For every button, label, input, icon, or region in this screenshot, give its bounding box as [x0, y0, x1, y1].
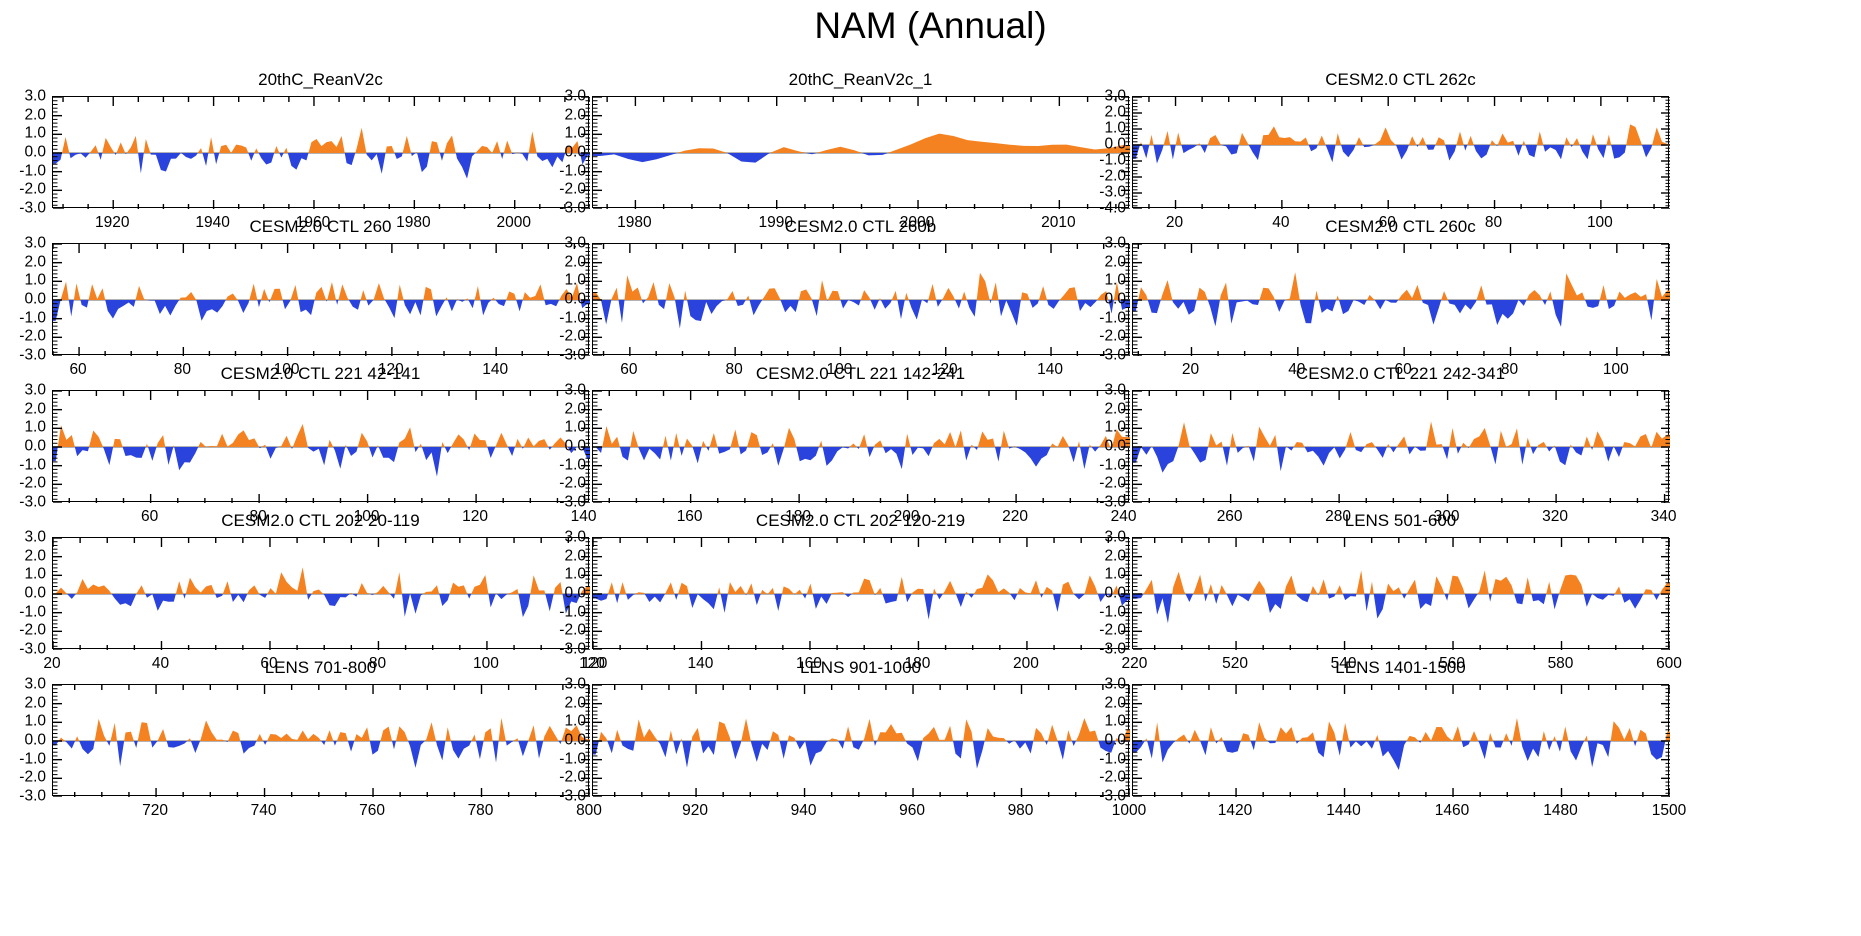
panel-plot-area [593, 391, 1130, 503]
plot-frame [52, 684, 589, 796]
y-tick-label: 2.0 [24, 548, 46, 564]
x-tick-label: 940 [791, 803, 817, 819]
y-tick-label: -2.0 [19, 329, 46, 345]
y-tick-label: -2.0 [559, 329, 586, 345]
y-tick-label: -1.0 [1099, 604, 1126, 620]
y-tick-label: 2.0 [564, 401, 586, 417]
plot-frame [592, 537, 1129, 649]
y-tick-label: -2.0 [559, 476, 586, 492]
panel-title: LENS 501-600 [1132, 511, 1669, 531]
y-tick-label: 0.0 [564, 144, 586, 160]
y-tick-label: 0.0 [564, 732, 586, 748]
panel-title: CESM2.0 CTL 221 142-241 [592, 364, 1129, 384]
y-tick-label: 2.0 [1104, 548, 1126, 564]
panel-plot-area [1133, 244, 1670, 356]
panel-title: CESM2.0 CTL 260c [1132, 217, 1669, 237]
y-tick-label: 3.0 [564, 88, 586, 104]
panel-title: CESM2.0 CTL 260b [592, 217, 1129, 237]
y-tick-label: -3.0 [559, 788, 586, 804]
y-tick-label: 0.0 [24, 585, 46, 601]
panel-plot-area [53, 685, 590, 797]
y-tick-label: -2.0 [559, 623, 586, 639]
chart-panel-5: CESM2.0 CTL 260c3.02.01.00.0-1.0-2.0-3.0… [1132, 243, 1669, 355]
y-tick-label: -1.0 [1099, 310, 1126, 326]
negative-anomaly-area [53, 567, 590, 617]
y-tick-label: -1.0 [559, 457, 586, 473]
y-tick-label: -4.0 [1099, 200, 1126, 216]
y-tick-label: -3.0 [1099, 494, 1126, 510]
panel-plot-area [1133, 685, 1670, 797]
positive-anomaly-area [53, 567, 590, 617]
y-tick-label: -1.0 [19, 163, 46, 179]
x-tick-label: 720 [142, 803, 168, 819]
y-tick-label: 3.0 [1104, 676, 1126, 692]
y-tick-label: -2.0 [1099, 329, 1126, 345]
panel-title: 20thC_ReanV2c_1 [592, 70, 1129, 90]
y-tick-label: 0.0 [24, 438, 46, 454]
y-tick-label: 3.0 [1104, 235, 1126, 251]
y-tick-label: -3.0 [1099, 788, 1126, 804]
positive-anomaly-area [593, 134, 1130, 163]
y-tick-label: 1.0 [1104, 714, 1126, 730]
chart-panel-2: CESM2.0 CTL 262c3.02.01.00.0-1.0-2.0-3.0… [1132, 96, 1669, 208]
y-tick-label: 0.0 [1104, 291, 1126, 307]
y-tick-label: -2.0 [1099, 476, 1126, 492]
panel-title: CESM2.0 CTL 202 120-219 [592, 511, 1129, 531]
chart-panel-13: LENS 901-10003.02.01.00.0-1.0-2.0-3.0920… [592, 684, 1129, 796]
y-tick-label: 1.0 [1104, 120, 1126, 136]
y-tick-label: 3.0 [564, 235, 586, 251]
y-tick-label: 2.0 [1104, 401, 1126, 417]
chart-panel-8: CESM2.0 CTL 221 242-3413.02.01.00.0-1.0-… [1132, 390, 1669, 502]
x-tick-label: 1460 [1435, 803, 1469, 819]
y-tick-label: -2.0 [559, 182, 586, 198]
y-tick-label: 2.0 [1104, 254, 1126, 270]
panel-title: LENS 901-1000 [592, 658, 1129, 678]
y-tick-label: -1.0 [19, 751, 46, 767]
plot-frame [1132, 684, 1669, 796]
x-tick-label: 740 [251, 803, 277, 819]
y-tick-label: 0.0 [1104, 732, 1126, 748]
x-tick-label: 800 [576, 803, 602, 819]
y-tick-label: 2.0 [24, 107, 46, 123]
panel-plot-area [53, 97, 590, 209]
y-tick-label: 2.0 [24, 695, 46, 711]
panel-title: 20thC_ReanV2c [52, 70, 589, 90]
negative-anomaly-area [593, 718, 1130, 768]
x-tick-label: 1000 [1112, 803, 1146, 819]
y-tick-label: -3.0 [559, 200, 586, 216]
y-tick-label: -2.0 [19, 182, 46, 198]
x-tick-label: 1420 [1218, 803, 1252, 819]
y-tick-label: 1.0 [564, 273, 586, 289]
y-tick-label: -3.0 [19, 200, 46, 216]
y-tick-label: -3.0 [559, 347, 586, 363]
y-tick-label: -2.0 [1099, 770, 1126, 786]
panel-plot-area [53, 391, 590, 503]
positive-anomaly-area [593, 574, 1130, 619]
y-tick-label: -3.0 [19, 494, 46, 510]
chart-panel-6: CESM2.0 CTL 221 42-1413.02.01.00.0-1.0-2… [52, 390, 589, 502]
y-tick-label: 2.0 [564, 107, 586, 123]
chart-panel-4: CESM2.0 CTL 260b3.02.01.00.0-1.0-2.0-3.0… [592, 243, 1129, 355]
panel-plot-area [1133, 538, 1670, 650]
y-tick-label: -1.0 [559, 163, 586, 179]
y-tick-label: 0.0 [24, 291, 46, 307]
figure-title: NAM (Annual) [0, 4, 1861, 48]
y-tick-label: -1.0 [1099, 152, 1126, 168]
chart-panel-0: 20thC_ReanV2c3.02.01.00.0-1.0-2.0-3.0192… [52, 96, 589, 208]
x-tick-label: 920 [682, 803, 708, 819]
y-tick-label: 3.0 [24, 88, 46, 104]
x-tick-label: 1480 [1543, 803, 1577, 819]
chart-panel-10: CESM2.0 CTL 202 120-2193.02.01.00.0-1.0-… [592, 537, 1129, 649]
y-tick-label: 2.0 [24, 401, 46, 417]
plot-frame [52, 537, 589, 649]
y-tick-label: 3.0 [24, 529, 46, 545]
plot-frame [1132, 96, 1669, 208]
plot-frame [1132, 390, 1669, 502]
y-tick-label: -1.0 [559, 751, 586, 767]
chart-panel-9: CESM2.0 CTL 202 20-1193.02.01.00.0-1.0-2… [52, 537, 589, 649]
plot-frame [592, 96, 1129, 208]
panel-title: LENS 1401-1500 [1132, 658, 1669, 678]
y-tick-label: 1.0 [564, 420, 586, 436]
y-tick-label: 1.0 [564, 126, 586, 142]
panel-plot-area [593, 97, 1130, 209]
y-tick-label: -2.0 [1099, 623, 1126, 639]
negative-anomaly-area [593, 574, 1130, 619]
y-tick-label: -2.0 [19, 476, 46, 492]
panel-plot-area [593, 685, 1130, 797]
y-tick-label: 3.0 [24, 382, 46, 398]
y-tick-label: -2.0 [559, 770, 586, 786]
y-tick-label: 3.0 [564, 382, 586, 398]
panel-title: CESM2.0 CTL 262c [1132, 70, 1669, 90]
y-tick-label: -3.0 [1099, 347, 1126, 363]
figure-canvas: NAM (Annual) 20thC_ReanV2c3.02.01.00.0-1… [0, 0, 1861, 936]
y-tick-label: 0.0 [1104, 585, 1126, 601]
y-tick-label: -3.0 [19, 347, 46, 363]
y-tick-label: -1.0 [19, 457, 46, 473]
y-tick-label: 3.0 [1104, 529, 1126, 545]
y-tick-label: -1.0 [559, 310, 586, 326]
plot-frame [1132, 243, 1669, 355]
panel-plot-area [53, 244, 590, 356]
y-tick-label: 1.0 [24, 567, 46, 583]
chart-panel-7: CESM2.0 CTL 221 142-2413.02.01.00.0-1.0-… [592, 390, 1129, 502]
chart-panel-14: LENS 1401-15003.02.01.00.0-1.0-2.0-3.014… [1132, 684, 1669, 796]
y-tick-label: 0.0 [564, 585, 586, 601]
panel-title: CESM2.0 CTL 221 242-341 [1132, 364, 1669, 384]
y-tick-label: 3.0 [24, 676, 46, 692]
y-tick-label: 3.0 [564, 676, 586, 692]
y-tick-label: 0.0 [24, 144, 46, 160]
y-tick-label: -1.0 [559, 604, 586, 620]
chart-panel-11: LENS 501-6003.02.01.00.0-1.0-2.0-3.05205… [1132, 537, 1669, 649]
panel-plot-area [1133, 391, 1670, 503]
y-tick-label: -1.0 [19, 310, 46, 326]
y-tick-label: -3.0 [559, 494, 586, 510]
y-tick-label: 1.0 [24, 126, 46, 142]
y-tick-label: 0.0 [564, 438, 586, 454]
y-tick-label: 1.0 [564, 714, 586, 730]
y-tick-label: 1.0 [1104, 273, 1126, 289]
plot-frame [1132, 537, 1669, 649]
panel-plot-area [1133, 97, 1670, 209]
plot-frame [592, 684, 1129, 796]
negative-anomaly-area [53, 718, 590, 768]
y-tick-label: -2.0 [19, 770, 46, 786]
panel-title: LENS 701-800 [52, 658, 589, 678]
y-tick-label: 0.0 [1104, 438, 1126, 454]
panel-title: CESM2.0 CTL 202 20-119 [52, 511, 589, 531]
y-tick-label: 0.0 [564, 291, 586, 307]
x-tick-label: 980 [1008, 803, 1034, 819]
y-tick-label: -3.0 [1099, 641, 1126, 657]
panel-plot-area [593, 244, 1130, 356]
y-tick-label: 1.0 [1104, 567, 1126, 583]
y-tick-label: 1.0 [24, 714, 46, 730]
y-tick-label: 1.0 [24, 420, 46, 436]
panel-title: CESM2.0 CTL 221 42-141 [52, 364, 589, 384]
y-tick-label: -2.0 [19, 623, 46, 639]
y-tick-label: -1.0 [19, 604, 46, 620]
y-tick-label: -2.0 [1099, 168, 1126, 184]
y-tick-label: -3.0 [19, 641, 46, 657]
plot-frame [52, 96, 589, 208]
y-tick-label: 0.0 [1104, 136, 1126, 152]
y-tick-label: 2.0 [1104, 104, 1126, 120]
y-tick-label: 2.0 [1104, 695, 1126, 711]
chart-panel-12: LENS 701-8003.02.01.00.0-1.0-2.0-3.07207… [52, 684, 589, 796]
negative-anomaly-area [1133, 570, 1670, 623]
chart-panel-1: 20thC_ReanV2c_13.02.01.00.0-1.0-2.0-3.01… [592, 96, 1129, 208]
plot-frame [52, 390, 589, 502]
panel-title: CESM2.0 CTL 260 [52, 217, 589, 237]
y-tick-label: 2.0 [24, 254, 46, 270]
panel-plot-area [53, 538, 590, 650]
panel-plot-area [593, 538, 1130, 650]
plot-frame [52, 243, 589, 355]
y-tick-label: -1.0 [1099, 751, 1126, 767]
y-tick-label: 3.0 [24, 235, 46, 251]
negative-anomaly-area [53, 424, 590, 477]
y-tick-label: 2.0 [564, 548, 586, 564]
y-tick-label: 3.0 [1104, 382, 1126, 398]
y-tick-label: -3.0 [1099, 184, 1126, 200]
negative-anomaly-area [1133, 718, 1670, 770]
y-tick-label: 2.0 [564, 695, 586, 711]
y-tick-label: 1.0 [24, 273, 46, 289]
x-tick-label: 760 [359, 803, 385, 819]
y-tick-label: 2.0 [564, 254, 586, 270]
y-tick-label: -1.0 [1099, 457, 1126, 473]
y-tick-label: -3.0 [19, 788, 46, 804]
y-tick-label: 1.0 [1104, 420, 1126, 436]
y-tick-label: 3.0 [1104, 88, 1126, 104]
x-tick-label: 960 [899, 803, 925, 819]
x-tick-label: 1500 [1652, 803, 1686, 819]
plot-frame [592, 390, 1129, 502]
x-tick-label: 780 [468, 803, 494, 819]
y-tick-label: 1.0 [564, 567, 586, 583]
y-tick-label: 0.0 [24, 732, 46, 748]
chart-panel-3: CESM2.0 CTL 2603.02.01.00.0-1.0-2.0-3.06… [52, 243, 589, 355]
x-tick-label: 1440 [1326, 803, 1360, 819]
plot-frame [592, 243, 1129, 355]
y-tick-label: 3.0 [564, 529, 586, 545]
